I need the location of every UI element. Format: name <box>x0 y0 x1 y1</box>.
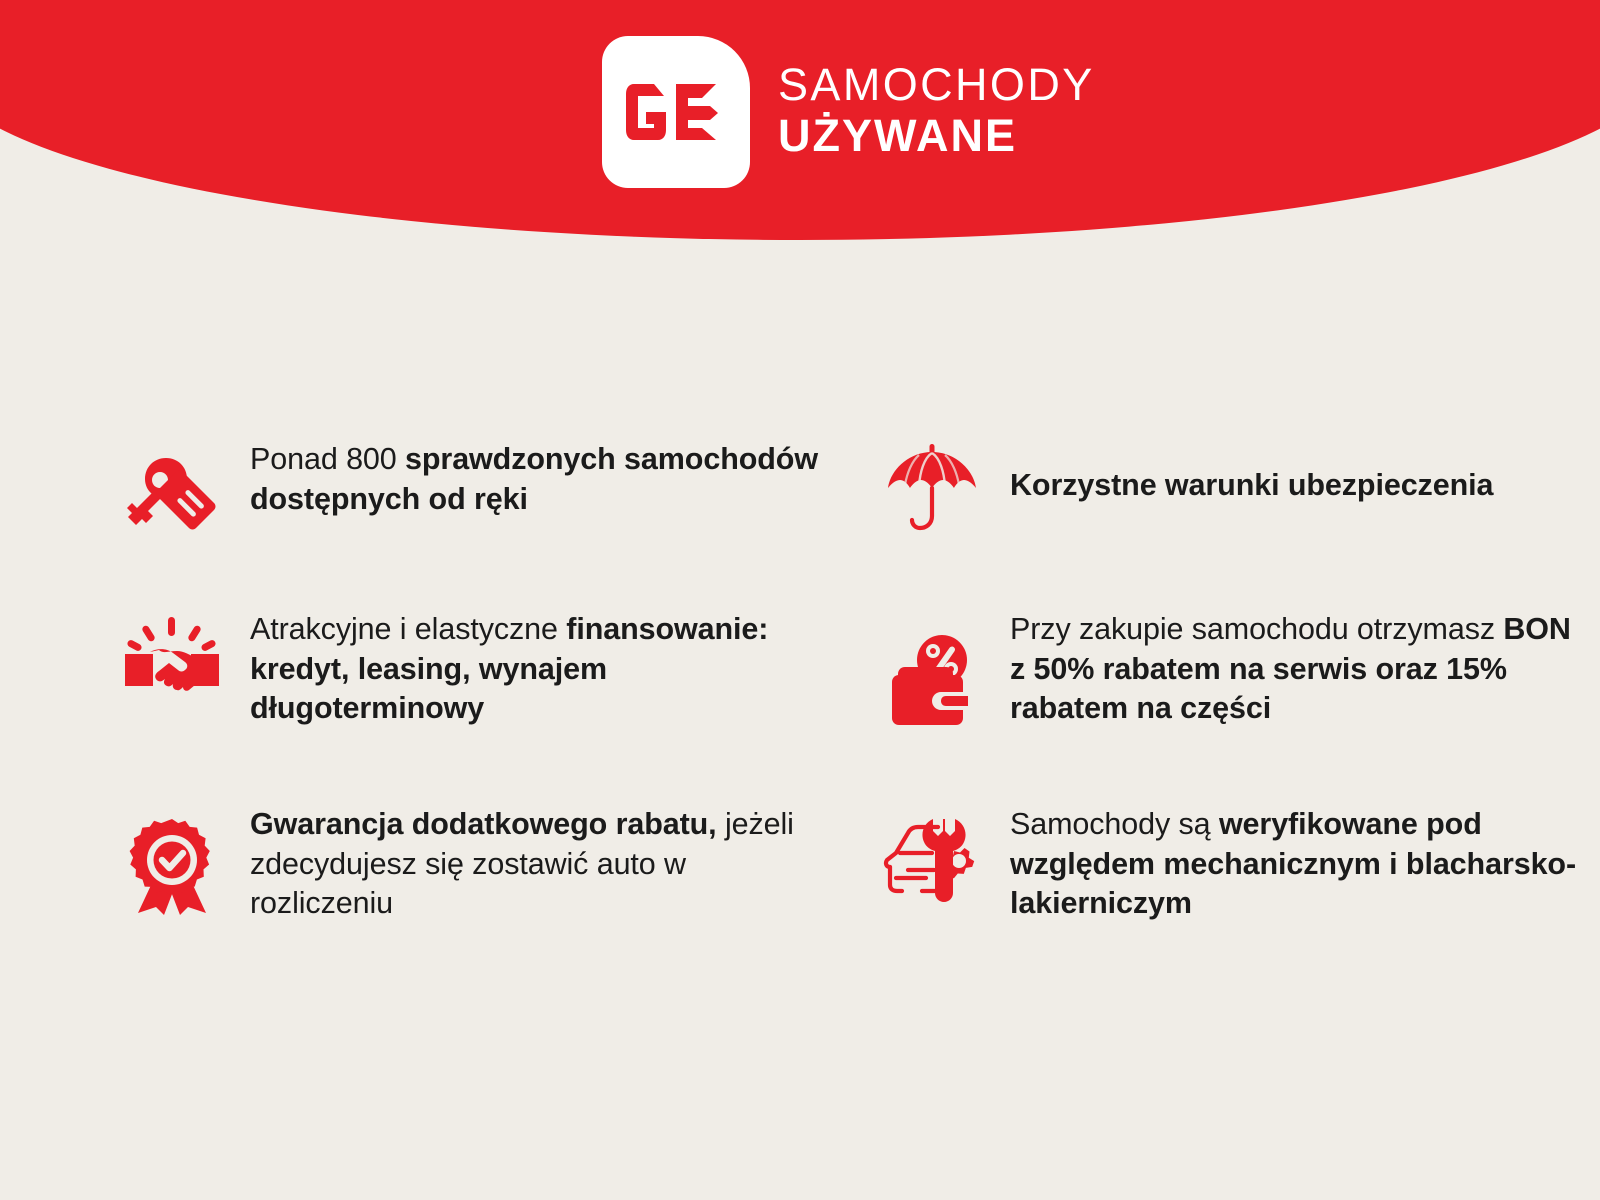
feature-item: Korzystne warunki ubezpieczenia <box>880 440 1600 610</box>
umbrella-icon <box>880 440 984 536</box>
feature-text-bold: Gwarancja dodatkowego rabatu, <box>250 807 725 841</box>
car-wrench-gear-icon <box>880 805 984 903</box>
feature-column-right: Korzystne warunki ubezpieczenia <box>880 440 1600 924</box>
brand-title-line1: SAMOCHODY <box>778 62 1095 107</box>
wallet-percent-icon <box>880 610 984 728</box>
feature-text-regular: Atrakcyjne i elastyczne <box>250 612 566 646</box>
feature-text-regular: Ponad 800 <box>250 442 405 476</box>
brand-logo[interactable]: SAMOCHODY UŻYWANE <box>602 36 1095 188</box>
feature-item: Gwarancja dodatkowego rabatu, jeżeli zde… <box>120 805 840 924</box>
feature-grid: Ponad 800 sprawdzonych samochodów dostęp… <box>0 440 1600 924</box>
feature-text: Samochody są weryfikowane pod względem m… <box>1010 805 1590 924</box>
feature-text: Atrakcyjne i elastyczne finansowanie: kr… <box>250 610 830 729</box>
rosette-check-icon <box>120 805 224 915</box>
gb-logo-mark <box>602 36 750 188</box>
gb-monogram-icon <box>602 36 750 188</box>
feature-item: Przy zakupie samochodu otrzymasz BON z 5… <box>880 610 1600 805</box>
feature-item: Atrakcyjne i elastyczne finansowanie: kr… <box>120 610 840 805</box>
feature-text-bold: Korzystne warunki ubezpieczenia <box>1010 468 1493 502</box>
brand-title-line2: UŻYWANE <box>778 113 1095 158</box>
keys-icon <box>120 440 224 540</box>
feature-text-regular: Przy zakupie samochodu otrzymasz <box>1010 612 1503 646</box>
feature-item: Ponad 800 sprawdzonych samochodów dostęp… <box>120 440 840 610</box>
feature-text: Korzystne warunki ubezpieczenia <box>1010 440 1493 506</box>
feature-text-regular: Samochody są <box>1010 807 1219 841</box>
brand-title: SAMOCHODY UŻYWANE <box>778 62 1095 162</box>
feature-item: Samochody są weryfikowane pod względem m… <box>880 805 1600 924</box>
feature-text: Przy zakupie samochodu otrzymasz BON z 5… <box>1010 610 1590 729</box>
handshake-icon <box>120 610 224 704</box>
feature-column-left: Ponad 800 sprawdzonych samochodów dostęp… <box>120 440 840 924</box>
feature-text: Ponad 800 sprawdzonych samochodów dostęp… <box>250 440 830 519</box>
feature-text: Gwarancja dodatkowego rabatu, jeżeli zde… <box>250 805 830 924</box>
